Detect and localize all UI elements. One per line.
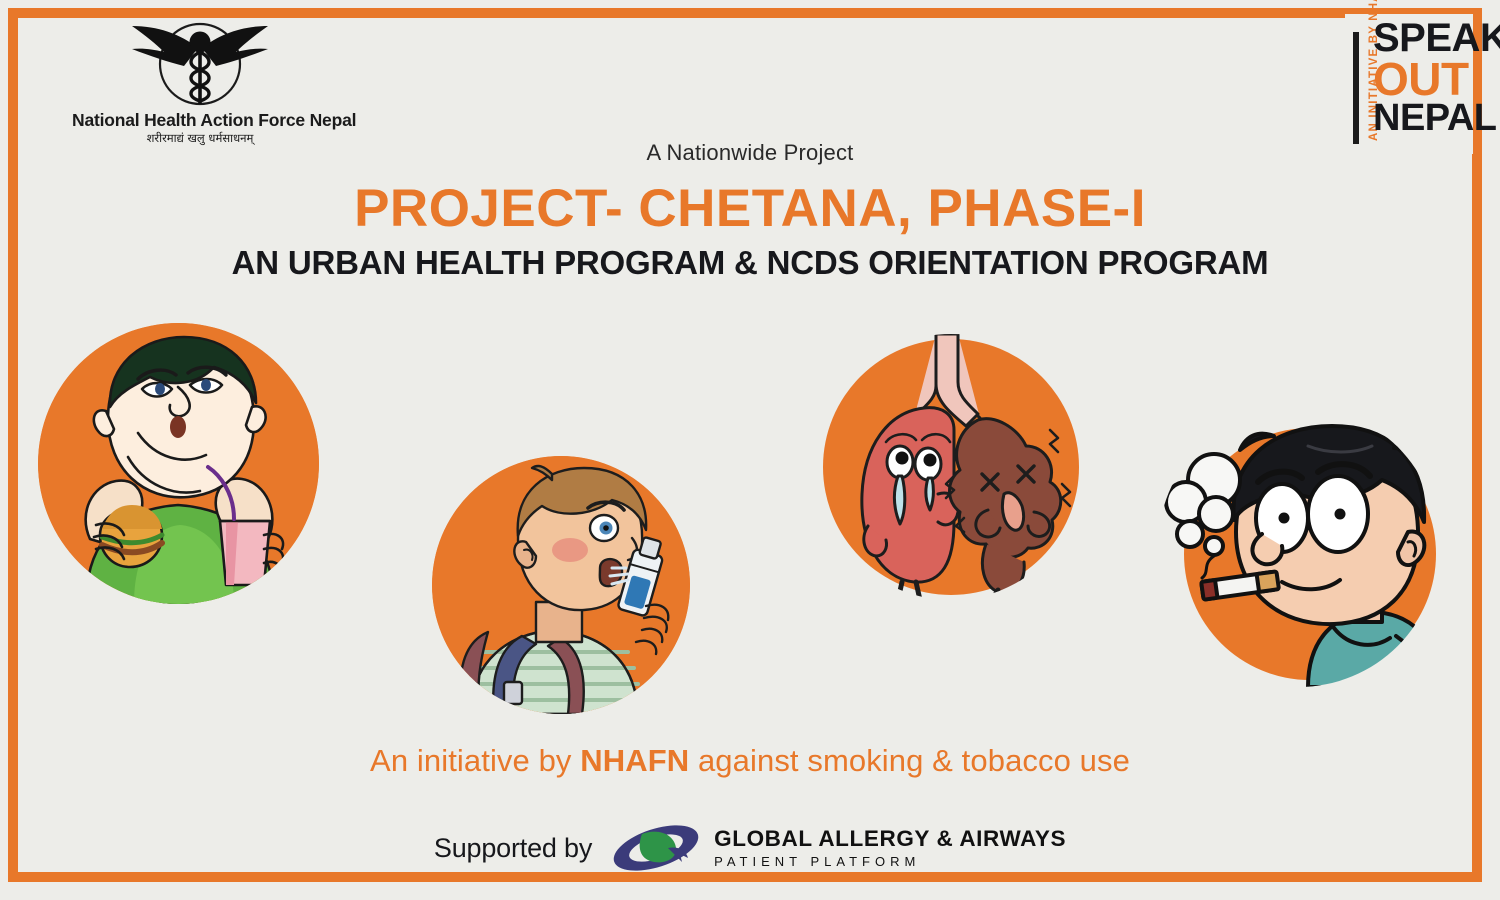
gaapp-logo: GLOBAL ALLERGY & AIRWAYS PATIENT PLATFOR… xyxy=(608,820,1066,876)
illustration-asthma-inhaler-boy xyxy=(432,456,690,714)
tagline-after: against smoking & tobacco use xyxy=(689,743,1130,778)
kicker-text: A Nationwide Project xyxy=(0,140,1500,166)
campaign-logo-line-out: OUT xyxy=(1373,58,1473,101)
campaign-tagline: An initiative by NHAFN against smoking &… xyxy=(0,743,1500,779)
illustration-obesity-unhealthy-diet xyxy=(38,323,319,604)
campaign-logo-line-speak: SPEAK xyxy=(1373,20,1473,58)
supported-by-label: Supported by xyxy=(434,833,592,864)
gaapp-name-line1: GLOBAL ALLERGY & AIRWAYS xyxy=(714,828,1066,851)
caduceus-icon xyxy=(72,18,328,110)
supporter-section: Supported by GLOBAL ALLERGY & AIRWAYS PA… xyxy=(0,820,1500,876)
illustration-healthy-vs-diseased-lungs xyxy=(818,334,1084,600)
gaapp-name-line2: PATIENT PLATFORM xyxy=(714,855,1066,868)
poster-canvas: National Health Action Force Nepal शरीरम… xyxy=(0,0,1500,900)
page-title: PROJECT- CHETANA, PHASE-I xyxy=(0,178,1500,239)
page-subtitle: AN URBAN HEALTH PROGRAM & NCDS ORIENTATI… xyxy=(0,244,1500,282)
tagline-highlight: NHAFN xyxy=(580,743,689,778)
org-logo: National Health Action Force Nepal शरीरम… xyxy=(72,18,328,148)
org-name: National Health Action Force Nepal xyxy=(72,112,328,130)
campaign-logo: AN INITIATIVE BY NHAFN SPEAK OUT NEPAL xyxy=(1345,14,1473,154)
gaapp-orbit-lung-icon xyxy=(608,820,704,876)
tagline-before: An initiative by xyxy=(370,743,580,778)
campaign-logo-bar xyxy=(1353,32,1359,144)
campaign-logo-line-nepal: NEPAL xyxy=(1373,101,1473,137)
campaign-logo-wordmark: SPEAK OUT NEPAL xyxy=(1373,20,1473,137)
illustration-boy-smoking-cigarette xyxy=(1158,406,1439,687)
